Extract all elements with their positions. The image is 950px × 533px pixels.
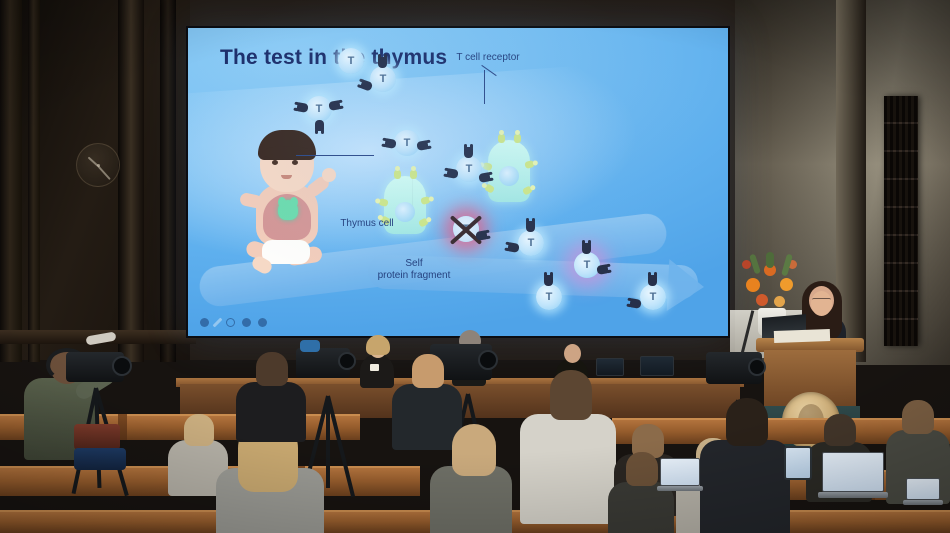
- t-cell-glyph: T: [528, 237, 535, 249]
- t-cell: T: [536, 284, 562, 310]
- baby-illustration: [234, 128, 340, 283]
- t-cell-glyph: T: [650, 291, 657, 303]
- camera-monitor: [300, 340, 320, 352]
- label-t-cell-receptor: T cell receptor: [438, 52, 538, 64]
- glasses-icon: [812, 298, 831, 303]
- previous-slide-icon[interactable]: [200, 318, 209, 327]
- wall-pillar: [160, 0, 176, 362]
- camera-bag: [74, 448, 126, 470]
- audience-member: [520, 370, 616, 510]
- t-cell: T: [518, 230, 544, 256]
- thymus-gland-highlight: [278, 200, 298, 220]
- camera-battery: [74, 424, 120, 450]
- projection-screen: The test in the thymus: [186, 26, 730, 338]
- camera-lens-icon: [338, 352, 356, 370]
- t-cell: T: [306, 96, 332, 122]
- t-cell-glyph: T: [466, 163, 473, 175]
- speech-notes: [774, 329, 830, 343]
- wall-pillar: [0, 0, 22, 362]
- t-cell-glyph: T: [404, 137, 411, 149]
- label-thymus-cell: Thymus cell: [334, 218, 400, 230]
- deleted-t-cell: T: [453, 216, 479, 242]
- flow-arrow-head: [667, 259, 706, 313]
- wall-clock-icon: [76, 143, 120, 187]
- magnifier-icon[interactable]: [226, 318, 235, 327]
- wall-pillar: [28, 0, 40, 362]
- wooden-slat-panel: [884, 96, 918, 346]
- auditorium-scene: The test in the thymus: [0, 0, 950, 533]
- audience-member: [430, 424, 512, 533]
- audience-member: [700, 398, 790, 533]
- t-cell: T: [370, 66, 396, 92]
- camera-lens-icon: [478, 350, 498, 370]
- presentation-slide: The test in the thymus: [188, 28, 728, 336]
- t-cell: T: [338, 48, 364, 74]
- presenter-toolbar[interactable]: [200, 317, 267, 328]
- t-cell: T: [640, 284, 666, 310]
- menu-icon[interactable]: [242, 318, 251, 327]
- t-cell: T: [394, 130, 420, 156]
- t-cell: T: [574, 252, 600, 278]
- wall-pillar: [118, 0, 144, 362]
- camera-lens-icon: [748, 358, 766, 376]
- camera-lens-icon: [112, 356, 132, 376]
- t-cell-glyph: T: [316, 103, 323, 115]
- leader-line-thymus: [296, 155, 374, 156]
- audience-member: [236, 352, 306, 432]
- t-cell-glyph: T: [348, 55, 355, 67]
- next-slide-icon[interactable]: [258, 318, 267, 327]
- label-self-protein-line2: protein fragment: [350, 270, 478, 282]
- label-self-protein-line1: Self: [374, 258, 454, 270]
- thymus-cell: [488, 140, 530, 202]
- t-cell-glyph: T: [380, 73, 387, 85]
- t-cell: T: [456, 156, 482, 182]
- t-cell-glyph: T: [584, 259, 591, 271]
- leader-line-receptor: [484, 70, 485, 104]
- t-cell-glyph: T: [546, 291, 553, 303]
- tablet[interactable]: [784, 446, 812, 480]
- pen-icon[interactable]: [213, 318, 223, 328]
- slide-title: The test in the thymus: [220, 46, 447, 70]
